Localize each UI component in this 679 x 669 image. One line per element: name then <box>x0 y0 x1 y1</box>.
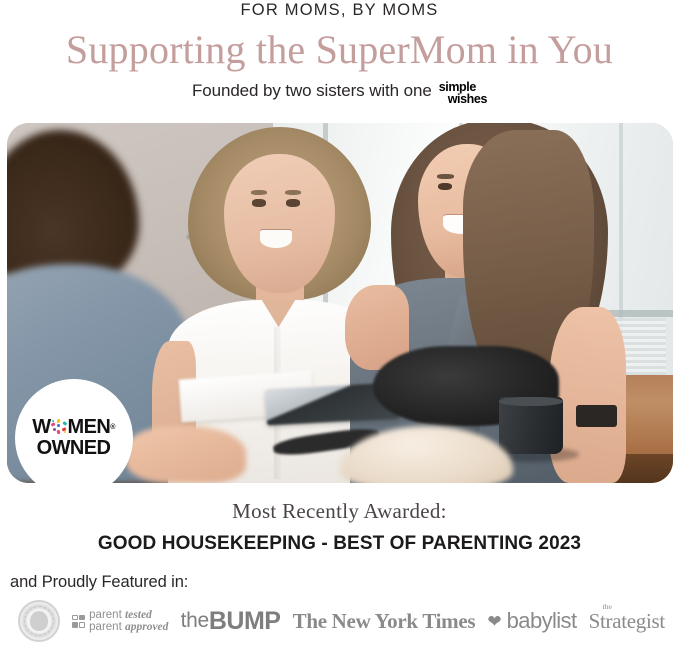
the-strategist-logo: the Strategist <box>589 609 665 634</box>
the-new-york-times-logo: The New York Times <box>293 609 476 634</box>
award-title: GOOD HOUSEKEEPING - BEST OF PARENTING 20… <box>0 533 679 555</box>
starburst-icon <box>51 419 68 436</box>
women-owned-badge: W MEN ® OWNED <box>15 379 133 483</box>
eyebrow-text: FOR MOMS, BY MOMS <box>0 0 679 19</box>
table-mug <box>499 397 562 455</box>
women-owned-badge-line2: OWNED <box>37 438 111 459</box>
women-owned-badge-line1: W MEN ® <box>32 417 115 437</box>
woman-left-smile <box>260 230 292 247</box>
women-owned-badge-w: W <box>32 417 50 437</box>
ptpa-grid-icon <box>72 615 85 628</box>
the-bump-logo: the BUMP <box>181 607 281 636</box>
ptpa-wordmark: parent tested parent approved <box>89 609 168 634</box>
the-strategist-wordmark: Strategist <box>589 609 665 634</box>
ptpa-tested: tested <box>125 609 152 621</box>
hero-photo: W MEN ® OWNED <box>7 123 673 483</box>
ptpa-parent-1: parent <box>89 609 122 621</box>
simple-wishes-logo-line2: wishes <box>439 93 487 105</box>
ptpa-parent-2: parent <box>89 621 122 633</box>
the-bump-wordmark: BUMP <box>209 607 281 636</box>
page-title: Supporting the SuperMom in You <box>0 26 679 73</box>
press-logo-row: parent tested parent approved the BUMP T… <box>0 600 679 642</box>
woman-left-eyebrow <box>251 190 267 195</box>
woman-left-eyebrow <box>285 190 301 195</box>
ptpa-approved: approved <box>125 621 168 633</box>
babylist-wordmark: babylist <box>507 608 577 634</box>
woman-right-eye <box>438 183 452 190</box>
woman-left-eye <box>286 199 300 207</box>
seal-ring <box>24 606 54 636</box>
founder-subline: Founded by two sisters with one simple w… <box>0 82 679 107</box>
registered-trademark-icon: ® <box>110 424 115 431</box>
the-bump-prefix: the <box>181 609 209 633</box>
hero-header: FOR MOMS, BY MOMS Supporting the SuperMo… <box>0 0 679 106</box>
women-owned-badge-men: MEN <box>68 417 111 437</box>
ptpa-line2: parent approved <box>89 621 168 633</box>
founder-subline-text: Founded by two sisters with one <box>192 82 432 101</box>
heart-icon: ❤ <box>487 613 501 630</box>
woman-right-watch <box>576 405 617 426</box>
babylist-logo: ❤ babylist <box>487 608 576 634</box>
woman-left-eye <box>252 199 266 207</box>
woman-right-eyebrow <box>437 174 454 179</box>
cribsie-awards-seal-icon <box>18 600 60 642</box>
ptpa-line1: parent tested <box>89 609 168 621</box>
simple-wishes-logo: simple wishes <box>439 81 487 106</box>
the-strategist-the: the <box>603 602 612 611</box>
featured-label: and Proudly Featured in: <box>0 573 679 592</box>
award-pretitle: Most Recently Awarded: <box>0 499 679 524</box>
award-section: Most Recently Awarded: GOOD HOUSEKEEPING… <box>0 499 679 555</box>
parent-tested-parent-approved-logo: parent tested parent approved <box>72 609 168 634</box>
